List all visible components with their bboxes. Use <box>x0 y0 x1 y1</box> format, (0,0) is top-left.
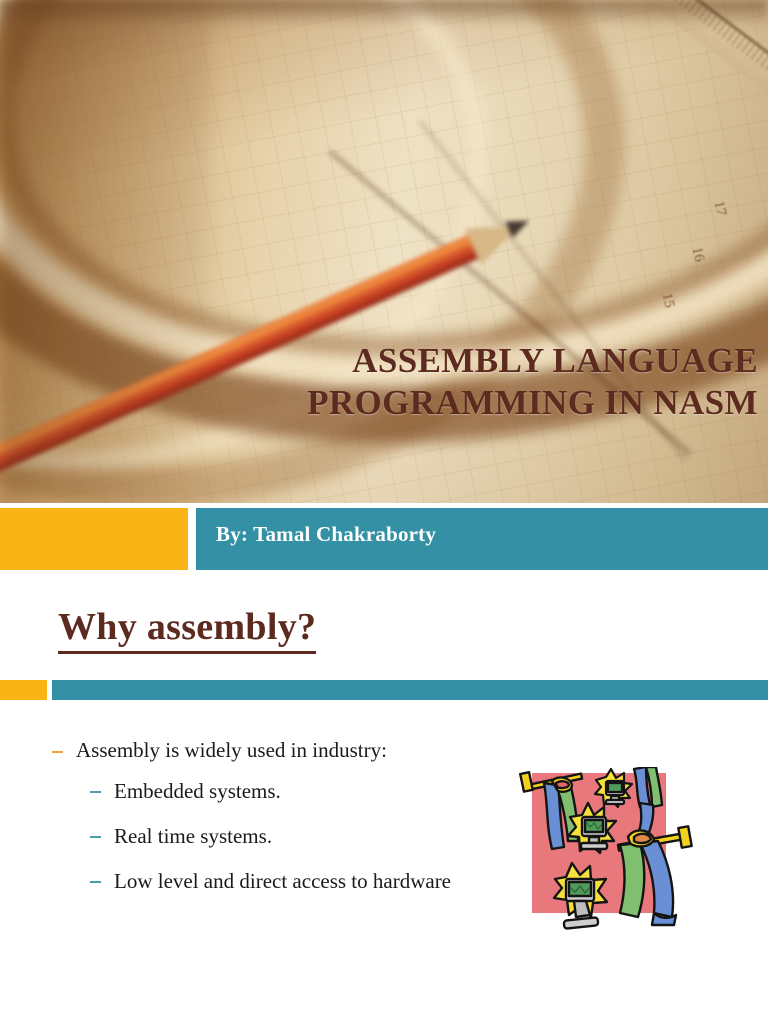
list-item: Low level and direct access to hardware <box>90 866 492 897</box>
list-item-label: Low level and direct access to hardware <box>114 866 451 897</box>
presentation-byline: By: Tamal Chakraborty <box>216 522 436 547</box>
title-bar-teal: By: Tamal Chakraborty <box>196 508 768 570</box>
hero-left-shadow <box>0 0 210 503</box>
list-item-label: Embedded systems. <box>114 776 281 807</box>
content-bar-orange <box>0 680 47 700</box>
dash-bullet-icon <box>90 791 101 793</box>
dash-bullet-icon <box>52 751 63 753</box>
list-item-label: Assembly is widely used in industry: <box>76 735 387 766</box>
content-bar-teal <box>52 680 768 700</box>
slide-heading: Why assembly? <box>58 605 316 654</box>
list-item-label: Real time systems. <box>114 821 272 852</box>
list-item: Assembly is widely used in industry: <box>52 735 492 766</box>
bullet-list: Assembly is widely used in industry: Emb… <box>52 735 492 911</box>
title-accent-bars: By: Tamal Chakraborty <box>0 508 768 572</box>
hero-image: 17 16 15 Assembly Language Programming i… <box>0 0 768 503</box>
clipart-image <box>508 767 708 957</box>
title-bar-orange <box>0 508 188 570</box>
list-item: Real time systems. <box>90 821 492 852</box>
dash-bullet-icon <box>90 881 101 883</box>
presentation-title: Assembly Language Programming in NASM <box>158 340 758 424</box>
content-accent-bars <box>0 680 768 700</box>
title-slide: 17 16 15 Assembly Language Programming i… <box>0 0 768 573</box>
computers-and-people-clipart-icon <box>508 767 708 957</box>
dash-bullet-icon <box>90 836 101 838</box>
list-item: Embedded systems. <box>90 776 492 807</box>
